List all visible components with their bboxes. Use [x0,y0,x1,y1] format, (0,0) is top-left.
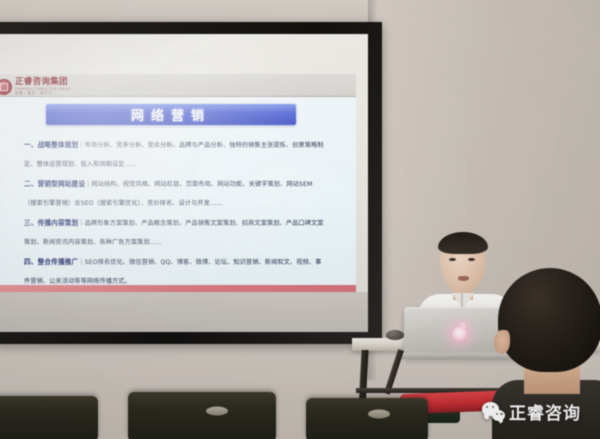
apple-logo-icon [451,322,468,341]
company-logo-text: 正睿咨询集团 ZHENGRUI CONSULTING GROUP 战略 | 管控… [15,78,71,95]
presenter-hair [438,232,488,254]
company-tagline: 战略 | 管控 | 执行力 [15,92,71,95]
watermark: 正睿咨询 [482,399,581,424]
company-seal-icon [0,79,12,95]
company-name-cn: 正睿咨询集团 [15,78,71,87]
slide-title-bar: 网络营销 [46,104,296,125]
screen-blank-area [0,292,368,332]
chair-badge [368,410,390,419]
section-number: 一、 [24,141,38,149]
slide-section: 四、整合传播推广｜SEO排名优化、微信营销、QQ、博客、微博、论坛、知识营销、新… [24,249,324,287]
section-number: 四、 [24,258,38,266]
attendee-hair [498,268,600,372]
slide-section: 一、战略整体规划｜市场分析、竞争分析、受众分析、品牌与产品分析、独特的销售主张提… [24,132,324,170]
chair-back [306,398,428,439]
presenter-eye-left [449,258,456,261]
section-heading: 战略整体规划 [38,141,79,149]
section-heading: 传播内容策划 [38,219,79,227]
presentation-slide: 正睿咨询集团 ZHENGRUI CONSULTING GROUP 战略 | 管控… [0,74,356,292]
slide-footer-band [0,285,356,292]
presenter-mouth [458,276,469,281]
presenter-eye-right [468,258,475,261]
attendee-ear [494,330,510,354]
slide-title: 网络营销 [131,105,211,124]
projection-screen-surface: 正睿咨询集团 ZHENGRUI CONSULTING GROUP 战略 | 管控… [0,34,368,332]
slide-section: 二、营销型网站建设｜网站结构、视觉风格、网站栏目、页面布局、网站功能、关键字策划… [24,171,324,209]
watermark-text: 正睿咨询 [509,399,581,424]
slide-body: 一、战略整体规划｜市场分析、竞争分析、受众分析、品牌与产品分析、独特的销售主张提… [24,132,324,292]
slide-section: 三、传播内容策划｜品牌形象方案策划、产品概念策划、产品销售文案策划、招商文案策划… [24,210,324,248]
section-number: 二、 [24,180,38,188]
section-heading: 整合传播推广 [38,258,79,266]
photo-scene: 正睿咨询集团 ZHENGRUI CONSULTING GROUP 战略 | 管控… [0,0,600,439]
chair-back [128,392,276,439]
chair-back [0,396,98,439]
chair-badge [206,406,228,415]
wechat-icon [482,402,505,421]
company-logo: 正睿咨询集团 ZHENGRUI CONSULTING GROUP 战略 | 管控… [0,78,71,95]
computer-mouse [386,330,404,340]
section-heading: 营销型网站建设 [38,180,86,188]
section-number: 三、 [24,219,38,227]
